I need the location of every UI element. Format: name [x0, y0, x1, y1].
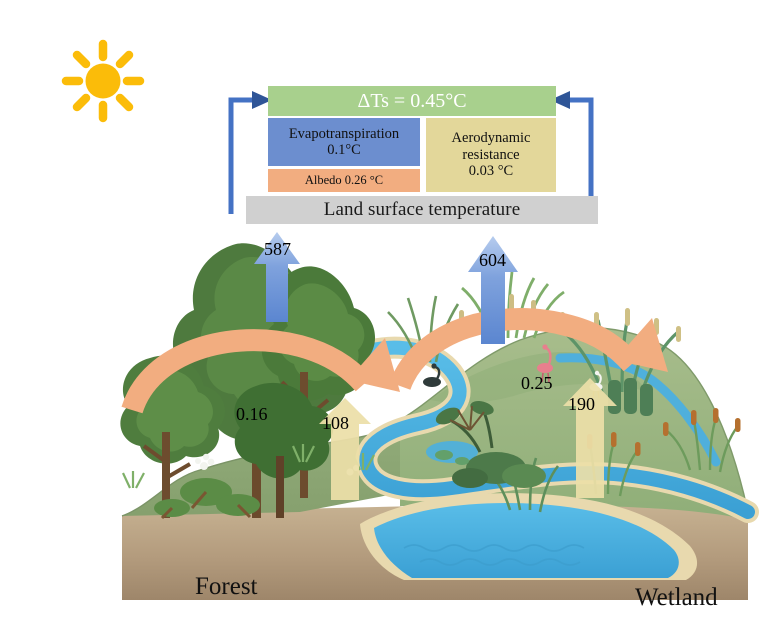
evapotranspiration-value: 0.1°C [327, 143, 361, 159]
flux-label-604: 604 [479, 250, 506, 271]
biome-label-forest: Forest [195, 573, 258, 601]
evapotranspiration-title: Evapotranspiration [289, 127, 399, 143]
delta-ts-box: ΔTs = 0.45°C [268, 86, 556, 116]
land-surface-temperature-bar: Land surface temperature [246, 196, 598, 224]
aerodynamic-resistance-box: Aerodynamic resistance 0.03 °C [426, 118, 556, 192]
flux-label-190: 190 [568, 394, 595, 415]
aerodynamic-title-line1: Aerodynamic [452, 130, 531, 147]
flux-label-108: 108 [322, 413, 349, 434]
albedo-label: Albedo 0.26 °C [305, 173, 383, 188]
figure-canvas: 587 604 108 190 0.16 0.25 Forest Wetland… [0, 0, 760, 637]
flux-label-587: 587 [264, 239, 291, 260]
factor-row: Evapotranspiration 0.1°C Albedo 0.26 °C … [268, 118, 556, 192]
evapotranspiration-box: Evapotranspiration 0.1°C [268, 118, 420, 166]
aerodynamic-title-line2: resistance [462, 147, 519, 164]
aerodynamic-value: 0.03 °C [469, 163, 513, 180]
albedo-box: Albedo 0.26 °C [268, 169, 420, 192]
delta-ts-label: ΔTs = 0.45°C [357, 90, 466, 113]
biome-label-wetland: Wetland [635, 584, 718, 612]
flux-label-025: 0.25 [521, 373, 553, 394]
flux-label-016: 0.16 [236, 404, 268, 425]
left-factor-column: Evapotranspiration 0.1°C Albedo 0.26 °C [268, 118, 420, 192]
concept-diagram: Land surface temperature ΔTs = 0.45°C Ev… [222, 82, 600, 224]
land-surface-temperature-label: Land surface temperature [324, 199, 521, 221]
